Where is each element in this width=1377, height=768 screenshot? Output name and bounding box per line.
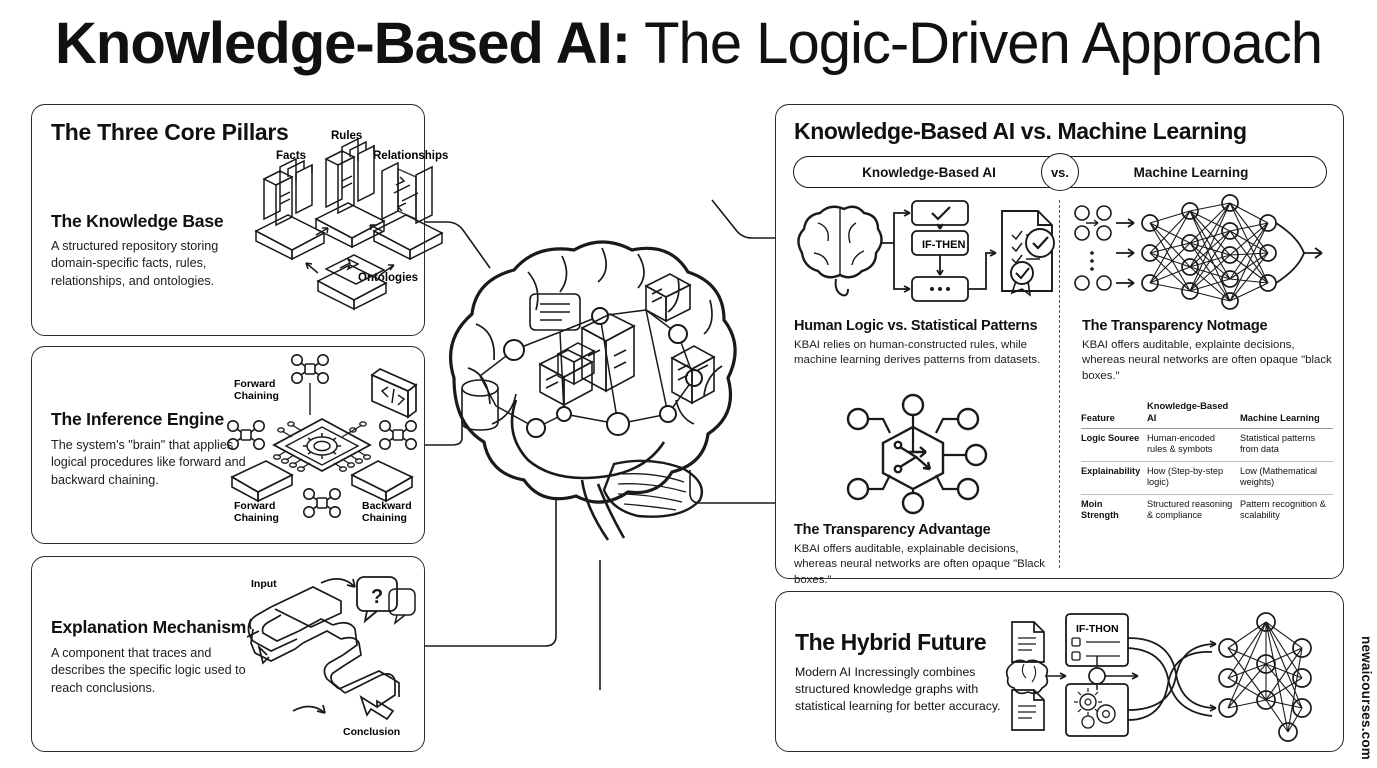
row-feature: Explainability [1081,461,1147,494]
section-transparency-advantage: The Transparency Advantage KBAI offers a… [794,522,1062,588]
table-header-row: Feature Knowledge-Based AI Machine Learn… [1081,400,1333,428]
pill-vs-badge: vs. [1041,153,1079,191]
explanation-mechanism-diagram: Input Conclusion [237,569,422,741]
comparison-title: Knowledge-Based AI vs. Machine Learning [794,118,1247,145]
row-ml: Low (Mathematical weights) [1240,461,1333,494]
human-logic-heading: Human Logic vs. Statistical Patterns [794,318,1052,334]
knowledge-base-diagram: Facts Rules Relationships Ontologies [246,123,446,323]
row-kbai: Structured reasoning & compliance [1147,494,1240,527]
kbai-illustration: IF-THEN [790,197,1056,309]
hybrid-future-heading: The Hybrid Future [795,629,986,656]
transparency-notmage-heading: The Transparency Notmage [1082,318,1332,334]
section-human-logic: Human Logic vs. Statistical Patterns KBA… [794,318,1052,369]
table-header-kbai: Knowledge-Based AI [1147,400,1240,428]
svg-text:Chaining: Chaining [362,512,407,524]
label-input: Input [251,578,277,590]
knowledge-base-heading: The Knowledge Base [51,211,223,232]
card-explanation-mechanism[interactable]: Explanation Mechanism A component that t… [31,556,425,752]
inference-engine-heading: The Inference Engine [51,409,224,430]
section-transparency-notmage: The Transparency Notmage KBAI offers aud… [1082,318,1332,384]
inference-engine-diagram: Forward Chaining Forward Chaining Backwa… [222,361,422,533]
svg-text:Chaining: Chaining [234,390,279,402]
row-kbai: Human-encoded rules & symbots [1147,428,1240,461]
table-header-ml: Machine Learning [1240,400,1333,428]
card-knowledge-base[interactable]: The Three Core Pillars The Knowledge Bas… [31,104,425,336]
inference-engine-body: The system's "brain" that applies logica… [51,437,246,489]
hybrid-future-body: Modern AI Incressingly combines structur… [795,664,1003,715]
comparison-pill-bar: Knowledge-Based AI Machine Learning vs. [793,156,1327,188]
if-thon-label: IF-THON [1076,623,1119,635]
label-forward-chaining-bottom: Forward [234,500,275,512]
diagram-label-relationships: Relationships [373,150,448,162]
watermark: newaicourses.com [1359,636,1374,760]
row-feature: Logic Souree [1081,428,1147,461]
table-row: Logic Souree Human-encoded rules & symbo… [1081,428,1333,461]
label-backward-chaining: Backward [362,500,412,512]
card-inference-engine[interactable]: The Inference Engine The system's "brain… [31,346,425,544]
row-ml: Pattern recognition & scalability [1240,494,1333,527]
pill-knowledge-based-ai[interactable]: Knowledge-Based AI [793,156,1065,188]
transparency-notmage-body: KBAI offers auditable, explainte decisio… [1082,338,1332,384]
transparency-advantage-body: KBAI offers auditable, explainable decis… [794,542,1062,588]
row-kbai: How (Step-by-step logic) [1147,461,1240,494]
knowledge-base-body: A structured repository storing domain-s… [51,238,237,290]
card-comparison[interactable]: Knowledge-Based AI vs. Machine Learning … [775,104,1344,579]
question-mark-glyph: ? [371,586,383,608]
explanation-mechanism-heading: Explanation Mechanism [51,617,246,638]
human-logic-body: KBAI relies on human-constructed rules, … [794,338,1052,369]
central-brain-graphic [432,228,762,543]
page-title-light: The Logic-Driven Approach [630,11,1322,76]
pill-machine-learning[interactable]: Machine Learning [1055,156,1327,188]
label-conclusion: Conclusion [343,726,400,738]
label-forward-chaining-top: Forward [234,378,275,390]
page-title-bold: Knowledge-Based AI: [55,11,630,76]
comparison-divider [1059,200,1060,568]
comparison-table: Feature Knowledge-Based AI Machine Learn… [1081,400,1333,527]
explanation-mechanism-body: A component that traces and describes th… [51,645,256,697]
transparency-advantage-heading: The Transparency Advantage [794,522,1062,538]
diagram-label-facts: Facts [276,150,306,162]
table-row: Explainability How (Step-by-step logic) … [1081,461,1333,494]
row-ml: Statistical patterns from data [1240,428,1333,461]
table-row: Moin Strength Structured reasoning & com… [1081,494,1333,527]
transparency-hex-icon [838,393,988,513]
card-hybrid-future[interactable]: The Hybrid Future Modern AI Incressingly… [775,591,1344,752]
ml-illustration [1072,197,1330,309]
row-feature: Moin Strength [1081,494,1147,527]
page-title: Knowledge-Based AI: The Logic-Driven App… [0,14,1377,75]
hybrid-future-diagram: IF-THON [1004,608,1334,742]
if-then-label: IF-THEN [922,239,965,251]
table-header-feature: Feature [1081,400,1147,428]
svg-text:Chaining: Chaining [234,512,279,524]
